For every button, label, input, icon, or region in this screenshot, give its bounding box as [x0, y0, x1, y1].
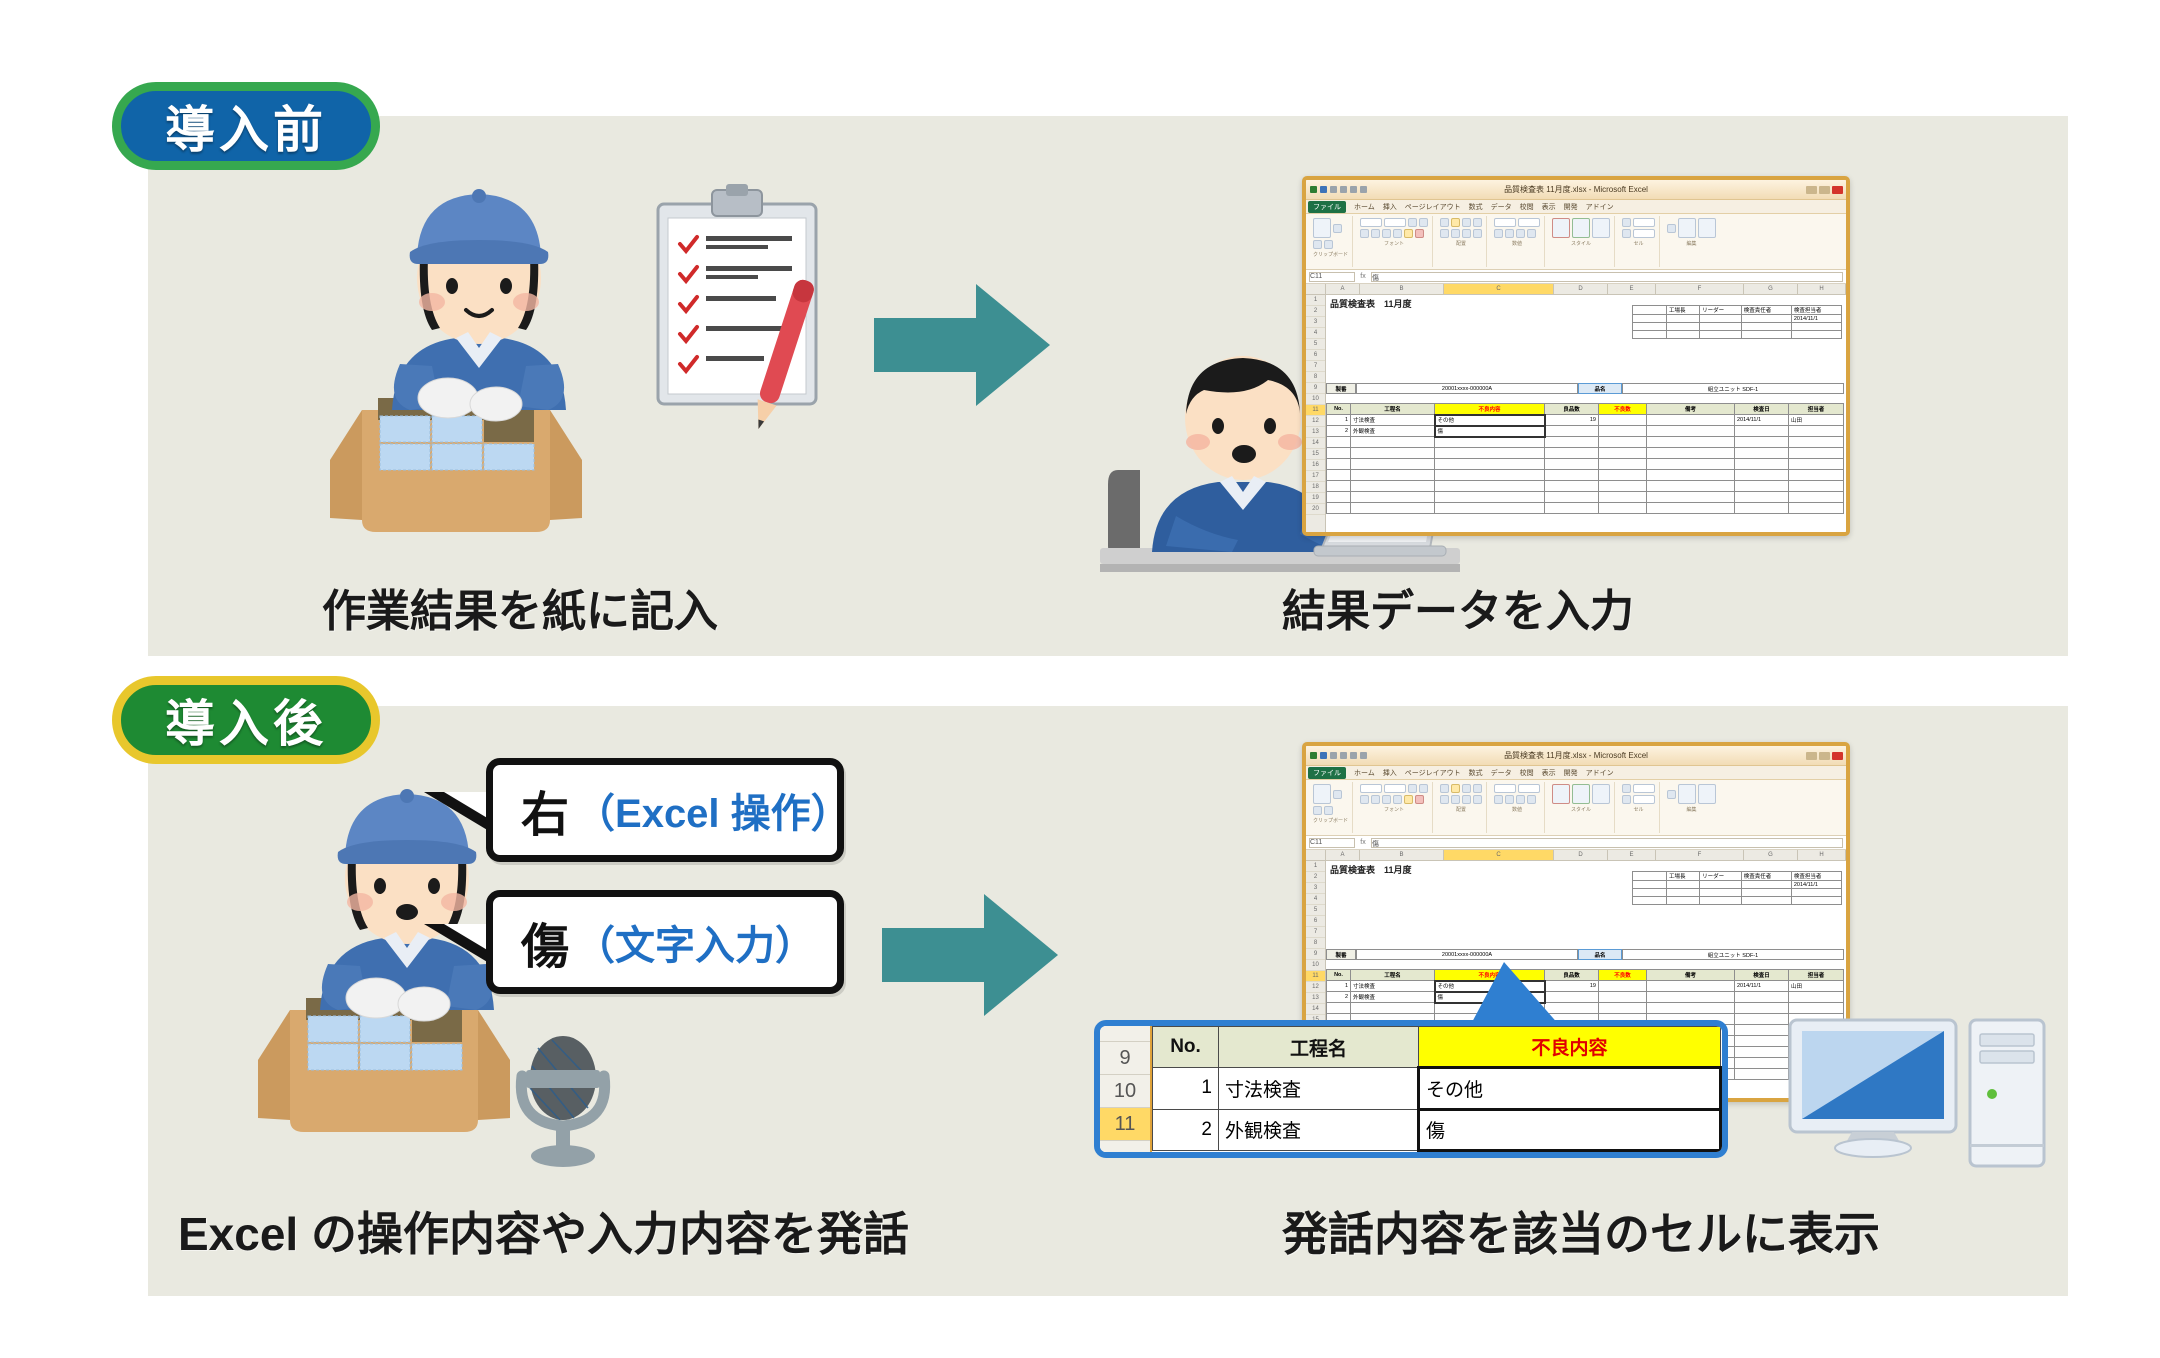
cell-bad[interactable]: [1599, 992, 1647, 1003]
formula-input[interactable]: 傷: [1371, 272, 1843, 282]
status-bar: 100%: [1306, 532, 1846, 536]
ribbon-group-label: セル: [1622, 806, 1655, 813]
th-date: 検査日: [1735, 970, 1789, 981]
approval-hdr: 工場長: [1667, 872, 1700, 881]
th-no: No.: [1153, 1027, 1219, 1068]
tab-file[interactable]: ファイル: [1308, 767, 1346, 779]
approval-hdr: リーダー: [1700, 306, 1742, 315]
table-row[interactable]: [1327, 448, 1844, 459]
microphone-icon: [508, 1022, 618, 1172]
bubble-parenthetical: （Excel 操作）: [575, 781, 851, 839]
col-H[interactable]: H: [1798, 850, 1846, 860]
th-no: No.: [1327, 970, 1351, 981]
cell-process[interactable]: 寸法検査: [1219, 1068, 1419, 1109]
cell-bad[interactable]: [1599, 415, 1647, 426]
cell-note[interactable]: [1647, 992, 1735, 1003]
monitor-icon: [1788, 1018, 1958, 1158]
worker-writing-illustration: [300, 160, 650, 560]
approval-stamp-table: 工場長 リーダー 検査責任者 検査担当者 2014/11/1: [1632, 305, 1842, 339]
clipboard-icon: [640, 182, 850, 442]
cell-process[interactable]: 外観検査: [1219, 1109, 1419, 1150]
tab-insert[interactable]: 挿入: [1383, 202, 1397, 212]
row-num[interactable]: 7: [1306, 361, 1325, 372]
info-label-serial: 製番: [1326, 383, 1356, 394]
row-headers[interactable]: 1 2 3 4 5 6 7 8 9 10 11 12 13 14 15 16 1…: [1306, 295, 1326, 536]
th-defect: 不良内容: [1435, 404, 1545, 415]
excel-titlebar: 品質検査表 11月度.xlsx - Microsoft Excel: [1306, 746, 1846, 766]
col-C[interactable]: C: [1444, 284, 1554, 294]
row-num[interactable]: 14: [1306, 1004, 1325, 1015]
formula-bar-row[interactable]: C11 fx 傷: [1306, 270, 1846, 284]
tab-developer[interactable]: 開発: [1564, 768, 1578, 778]
approval-hdr: 工場長: [1667, 306, 1700, 315]
badge-after: 導入後: [112, 676, 380, 764]
ribbon-group-label: 配置: [1440, 806, 1482, 813]
cell-no[interactable]: 1: [1153, 1068, 1219, 1109]
ribbon-group-label: フォント: [1360, 806, 1428, 813]
ribbon-group-label: クリップボード: [1313, 817, 1348, 824]
th-good: 良品数: [1545, 404, 1599, 415]
row-num[interactable]: 6: [1306, 350, 1325, 361]
info-value-product: 組立ユニット SDF-1: [1622, 949, 1844, 960]
table-row[interactable]: 1 寸法検査 その他 19 2014/11/1 山田: [1327, 415, 1844, 426]
ribbon-group-label: クリップボード: [1313, 251, 1348, 258]
bubble-keyword: 傷: [521, 907, 569, 977]
row-num-selected[interactable]: 11: [1306, 971, 1325, 982]
col-E[interactable]: E: [1608, 284, 1656, 294]
badge-before: 導入前: [112, 82, 380, 170]
tab-data[interactable]: データ: [1491, 768, 1512, 778]
column-headers[interactable]: A B C D E F G H: [1306, 284, 1846, 295]
row-num[interactable]: 4: [1306, 894, 1325, 905]
tab-home[interactable]: ホーム: [1354, 202, 1375, 212]
info-value-serial: 20001xxxx-000000A: [1356, 383, 1578, 394]
row-num[interactable]: 20: [1306, 504, 1325, 515]
cell-process[interactable]: 外観検査: [1351, 992, 1435, 1003]
approval-stamp-table: 工場長 リーダー 検査責任者 検査担当者 2014/11/1: [1632, 871, 1842, 905]
tab-formulas[interactable]: 数式: [1469, 202, 1483, 212]
window-controls[interactable]: [1806, 186, 1843, 194]
row-num[interactable]: 8: [1306, 938, 1325, 949]
ribbon-group-label: 編集: [1667, 806, 1716, 813]
table-row[interactable]: [1327, 1003, 1844, 1014]
cell-no[interactable]: 2: [1327, 426, 1351, 437]
cell-note[interactable]: [1647, 981, 1735, 992]
cell-date[interactable]: [1735, 426, 1789, 437]
row-num[interactable]: 10: [1306, 394, 1325, 405]
col-C[interactable]: C: [1444, 850, 1554, 860]
col-H[interactable]: H: [1798, 284, 1846, 294]
tab-formulas[interactable]: 数式: [1469, 768, 1483, 778]
tab-view[interactable]: 表示: [1542, 202, 1556, 212]
row-num[interactable]: 12: [1306, 416, 1325, 427]
cell-defect[interactable]: その他: [1419, 1068, 1721, 1109]
ribbon-group-label: 配置: [1440, 240, 1482, 247]
ribbon-group-styles[interactable]: スタイル: [1548, 216, 1615, 267]
col-E[interactable]: E: [1608, 850, 1656, 860]
name-box[interactable]: C11: [1309, 272, 1355, 282]
ribbon-group-cells[interactable]: セル: [1618, 782, 1660, 833]
cell-person[interactable]: [1789, 426, 1844, 437]
col-D[interactable]: D: [1554, 850, 1608, 860]
row-num[interactable]: 2: [1306, 306, 1325, 317]
col-B[interactable]: B: [1360, 850, 1444, 860]
caption-after-right: 発話内容を該当のセルに表示: [1282, 1198, 1880, 1264]
cell-note[interactable]: [1647, 426, 1735, 437]
th-no: No.: [1327, 404, 1351, 415]
ribbon-group-font[interactable]: フォント: [1356, 782, 1433, 833]
col-F[interactable]: F: [1656, 850, 1744, 860]
table-row[interactable]: 2 外観検査 傷: [1327, 426, 1844, 437]
row-num[interactable]: 16: [1306, 460, 1325, 471]
table-row[interactable]: [1327, 492, 1844, 503]
row-num-selected[interactable]: 11: [1100, 1108, 1150, 1141]
name-box[interactable]: C11: [1309, 838, 1355, 848]
table-row[interactable]: [1327, 481, 1844, 492]
cell-date[interactable]: 2014/11/1: [1735, 981, 1789, 992]
table-header-row: No. 工程名 不良内容 良品数 不良数 備考 検査日 担当者: [1327, 404, 1844, 415]
cell-bad[interactable]: [1599, 981, 1647, 992]
row-num[interactable]: 6: [1306, 916, 1325, 927]
sheet-content[interactable]: 品質検査表 11月度 工場長 リーダー 検査責任者 検査担当者 2014/11/…: [1326, 295, 1846, 536]
th-note: 備考: [1647, 970, 1735, 981]
tab-page-layout[interactable]: ページレイアウト: [1405, 768, 1461, 778]
row-num-selected[interactable]: 11: [1306, 405, 1325, 416]
tab-addins[interactable]: アドイン: [1586, 202, 1614, 212]
excel-ribbon[interactable]: クリップボード フォント 配置 数値 スタイル: [1306, 780, 1846, 836]
caption-before-left: 作業結果を紙に記入: [322, 575, 718, 639]
row-num[interactable]: 9: [1306, 949, 1325, 960]
cell-no[interactable]: 2: [1153, 1109, 1219, 1150]
excel-ribbon[interactable]: クリップボード フォント 配置 数値 スタイル: [1306, 214, 1846, 270]
th-bad: 不良数: [1599, 970, 1647, 981]
cell-defect[interactable]: 傷: [1419, 1109, 1721, 1150]
window-controls[interactable]: [1806, 752, 1843, 760]
tab-page-layout[interactable]: ページレイアウト: [1405, 202, 1461, 212]
th-person: 担当者: [1789, 404, 1844, 415]
ribbon-group-number[interactable]: 数値: [1490, 216, 1545, 267]
cell-no[interactable]: 2: [1327, 992, 1351, 1003]
col-D[interactable]: D: [1554, 284, 1608, 294]
tab-view[interactable]: 表示: [1542, 768, 1556, 778]
callout-row-headers: 9 10 11: [1100, 1026, 1152, 1152]
col-A[interactable]: A: [1326, 284, 1360, 294]
tab-review[interactable]: 校閲: [1520, 768, 1534, 778]
ribbon-group-editing[interactable]: 編集: [1663, 216, 1720, 267]
ribbon-group-label: スタイル: [1552, 806, 1610, 813]
speech-bubble-excel-operation: 右 （Excel 操作）: [486, 758, 844, 862]
row-num[interactable]: 10: [1100, 1075, 1150, 1108]
ribbon-group-font[interactable]: フォント: [1356, 216, 1433, 267]
info-row: 製番 20001xxxx-000000A 品名 組立ユニット SDF-1: [1326, 383, 1844, 394]
th-process: 工程名: [1351, 404, 1435, 415]
row-num[interactable]: 8: [1306, 372, 1325, 383]
row-num[interactable]: 3: [1306, 883, 1325, 894]
th-defect: 不良内容: [1419, 1027, 1721, 1068]
table-row[interactable]: [1327, 470, 1844, 481]
info-value-product: 組立ユニット SDF-1: [1622, 383, 1844, 394]
approval-hdr: 検査担当者: [1791, 306, 1841, 315]
ribbon-group-label: セル: [1622, 240, 1655, 247]
cell-note[interactable]: [1647, 415, 1735, 426]
cell-person[interactable]: 山田: [1789, 981, 1844, 992]
info-label-serial: 製番: [1326, 949, 1356, 960]
cell-person[interactable]: 山田: [1789, 415, 1844, 426]
ribbon-group-clipboard[interactable]: クリップボード: [1309, 216, 1353, 267]
row-num[interactable]: 7: [1306, 927, 1325, 938]
table-row[interactable]: 2 外観検査 傷: [1327, 992, 1844, 1003]
approval-hdr: [1633, 872, 1667, 881]
cell-process[interactable]: 寸法検査: [1351, 415, 1435, 426]
cell-defect[interactable]: その他: [1435, 415, 1545, 426]
row-num[interactable]: 18: [1306, 482, 1325, 493]
worksheet-grid[interactable]: 1 2 3 4 5 6 7 8 9 10 11 12 13 14 15 16 1…: [1306, 295, 1846, 536]
tab-data[interactable]: データ: [1491, 202, 1512, 212]
insert-function-icon[interactable]: fx: [1358, 839, 1368, 846]
th-date: 検査日: [1735, 404, 1789, 415]
cell-bad[interactable]: [1599, 426, 1647, 437]
row-num[interactable]: 5: [1306, 339, 1325, 350]
cell-good[interactable]: 19: [1545, 415, 1599, 426]
caption-after-left: Excel の操作内容や入力内容を発話: [178, 1198, 909, 1264]
bubble-parenthetical: （文字入力）: [575, 913, 815, 971]
approval-hdr: [1633, 306, 1667, 315]
cell-date[interactable]: [1735, 992, 1789, 1003]
row-num[interactable]: 13: [1306, 993, 1325, 1004]
select-all-corner[interactable]: [1306, 850, 1326, 860]
th-note: 備考: [1647, 404, 1735, 415]
ribbon-group-alignment[interactable]: 配置: [1436, 216, 1487, 267]
col-A[interactable]: A: [1326, 850, 1360, 860]
approval-date: 2014/11/1: [1791, 881, 1841, 889]
approval-hdr: 検査責任者: [1741, 872, 1791, 881]
col-B[interactable]: B: [1360, 284, 1444, 294]
row-num[interactable]: 10: [1306, 960, 1325, 971]
quick-access-toolbar[interactable]: [1306, 752, 1367, 759]
tab-addins[interactable]: アドイン: [1586, 768, 1614, 778]
row-num[interactable]: 17: [1306, 471, 1325, 482]
callout-header-row: No. 工程名 不良内容: [1153, 1027, 1721, 1068]
callout-row[interactable]: 2 外観検査 傷: [1153, 1109, 1721, 1150]
excel-ribbon-tabs[interactable]: ファイル ホーム 挿入 ページレイアウト 数式 データ 校閲 表示 開発 アドイ…: [1306, 766, 1846, 780]
pc-tower-icon: [1968, 1018, 2046, 1168]
cell-no[interactable]: 1: [1327, 981, 1351, 992]
col-G[interactable]: G: [1744, 284, 1798, 294]
excel-window-before[interactable]: 品質検査表 11月度.xlsx - Microsoft Excel ファイル ホ…: [1302, 176, 1850, 536]
th-process: 工程名: [1219, 1027, 1419, 1068]
column-headers[interactable]: A B C D E F G H: [1306, 850, 1846, 861]
cell-process[interactable]: 寸法検査: [1351, 981, 1435, 992]
th-process: 工程名: [1351, 970, 1435, 981]
row-num[interactable]: 2: [1306, 872, 1325, 883]
right-arrow-icon: [872, 280, 1052, 410]
ribbon-group-label: 編集: [1667, 240, 1716, 247]
row-num[interactable]: 4: [1306, 328, 1325, 339]
ribbon-group-editing[interactable]: 編集: [1663, 782, 1720, 833]
excel-titlebar: 品質検査表 11月度.xlsx - Microsoft Excel: [1306, 180, 1846, 200]
callout-inner: 9 10 11 No. 工程名 不良内容 1 寸法検査 その他 2 外観検査: [1100, 1026, 1722, 1152]
row-num[interactable]: 12: [1306, 982, 1325, 993]
speech-bubble-text-input: 傷 （文字入力）: [486, 890, 844, 994]
approval-hdr: リーダー: [1700, 872, 1742, 881]
tab-insert[interactable]: 挿入: [1383, 768, 1397, 778]
row-num[interactable]: 14: [1306, 438, 1325, 449]
row-num[interactable]: 15: [1306, 449, 1325, 460]
row-num[interactable]: 13: [1306, 427, 1325, 438]
caption-before-right: 結果データを入力: [1282, 575, 1634, 639]
ribbon-group-number[interactable]: 数値: [1490, 782, 1545, 833]
tab-file[interactable]: ファイル: [1308, 201, 1346, 213]
row-num[interactable]: 19: [1306, 493, 1325, 504]
row-num[interactable]: 1: [1306, 861, 1325, 872]
ribbon-group-label: フォント: [1360, 240, 1428, 247]
approval-hdr: 検査責任者: [1741, 306, 1791, 315]
formula-input[interactable]: 傷: [1371, 838, 1843, 848]
info-row: 製番 20001xxxx-000000A 品名 組立ユニット SDF-1: [1326, 949, 1844, 960]
table-row[interactable]: [1327, 437, 1844, 448]
th-bad: 不良数: [1599, 404, 1647, 415]
ribbon-group-label: スタイル: [1552, 240, 1610, 247]
row-num[interactable]: 1: [1306, 295, 1325, 306]
cell-defect[interactable]: 傷: [1435, 426, 1545, 437]
ribbon-group-clipboard[interactable]: クリップボード: [1309, 782, 1353, 833]
zoom-level[interactable]: 100%: [1827, 536, 1842, 537]
ribbon-group-label: 数値: [1494, 806, 1540, 813]
formula-bar-row[interactable]: C11 fx 傷: [1306, 836, 1846, 850]
tab-developer[interactable]: 開発: [1564, 202, 1578, 212]
row-num[interactable]: 3: [1306, 317, 1325, 328]
row-num[interactable]: 9: [1306, 383, 1325, 394]
approval-date: 2014/11/1: [1791, 315, 1841, 323]
table-row[interactable]: [1327, 503, 1844, 514]
excel-ribbon-tabs[interactable]: ファイル ホーム 挿入 ページレイアウト 数式 データ 校閲 表示 開発 アドイ…: [1306, 200, 1846, 214]
cell-good[interactable]: [1545, 426, 1599, 437]
bubble-keyword: 右: [521, 775, 569, 845]
excel-window-title: 品質検査表 11月度.xlsx - Microsoft Excel: [1306, 184, 1846, 195]
row-num-partial: [1100, 1026, 1150, 1042]
inspection-table[interactable]: No. 工程名 不良内容 良品数 不良数 備考 検査日 担当者 1 寸法検査 そ…: [1326, 403, 1844, 514]
info-label-product: 品名: [1578, 949, 1622, 960]
callout-row[interactable]: 1 寸法検査 その他: [1153, 1068, 1721, 1109]
cell-process[interactable]: 外観検査: [1351, 426, 1435, 437]
info-label-product: 品名: [1578, 383, 1622, 394]
table-row[interactable]: 1 寸法検査 その他 19 2014/11/1 山田: [1327, 981, 1844, 992]
callout-pointer: [1470, 962, 1560, 1026]
slide-canvas: 品質検査表 11月度.xlsx - Microsoft Excel ファイル ホ…: [0, 0, 2160, 1358]
ribbon-group-alignment[interactable]: 配置: [1436, 782, 1487, 833]
col-F[interactable]: F: [1656, 284, 1744, 294]
ribbon-group-cells[interactable]: セル: [1618, 216, 1660, 267]
quick-access-toolbar[interactable]: [1306, 186, 1367, 193]
approval-hdr: 検査担当者: [1791, 872, 1841, 881]
row-num[interactable]: 9: [1100, 1042, 1150, 1075]
right-arrow-icon: [880, 890, 1060, 1020]
select-all-corner[interactable]: [1306, 284, 1326, 294]
cell-date[interactable]: 2014/11/1: [1735, 415, 1789, 426]
cell-person[interactable]: [1789, 992, 1844, 1003]
callout-table[interactable]: No. 工程名 不良内容 1 寸法検査 その他 2 外観検査 傷: [1152, 1026, 1722, 1152]
th-person: 担当者: [1789, 970, 1844, 981]
table-row[interactable]: [1327, 459, 1844, 470]
info-value-serial: 20001xxxx-000000A: [1356, 949, 1578, 960]
cell-no[interactable]: 1: [1327, 415, 1351, 426]
tab-home[interactable]: ホーム: [1354, 768, 1375, 778]
zoomed-cell-callout: 9 10 11 No. 工程名 不良内容 1 寸法検査 その他 2 外観検査: [1094, 1020, 1728, 1158]
row-num[interactable]: 5: [1306, 905, 1325, 916]
insert-function-icon[interactable]: fx: [1358, 273, 1368, 280]
col-G[interactable]: G: [1744, 850, 1798, 860]
excel-window-title: 品質検査表 11月度.xlsx - Microsoft Excel: [1306, 750, 1846, 761]
ribbon-group-styles[interactable]: スタイル: [1548, 782, 1615, 833]
ribbon-group-label: 数値: [1494, 240, 1540, 247]
tab-review[interactable]: 校閲: [1520, 202, 1534, 212]
table-header-row: No. 工程名 不良内容 良品数 不良数 備考 検査日 担当者: [1327, 970, 1844, 981]
